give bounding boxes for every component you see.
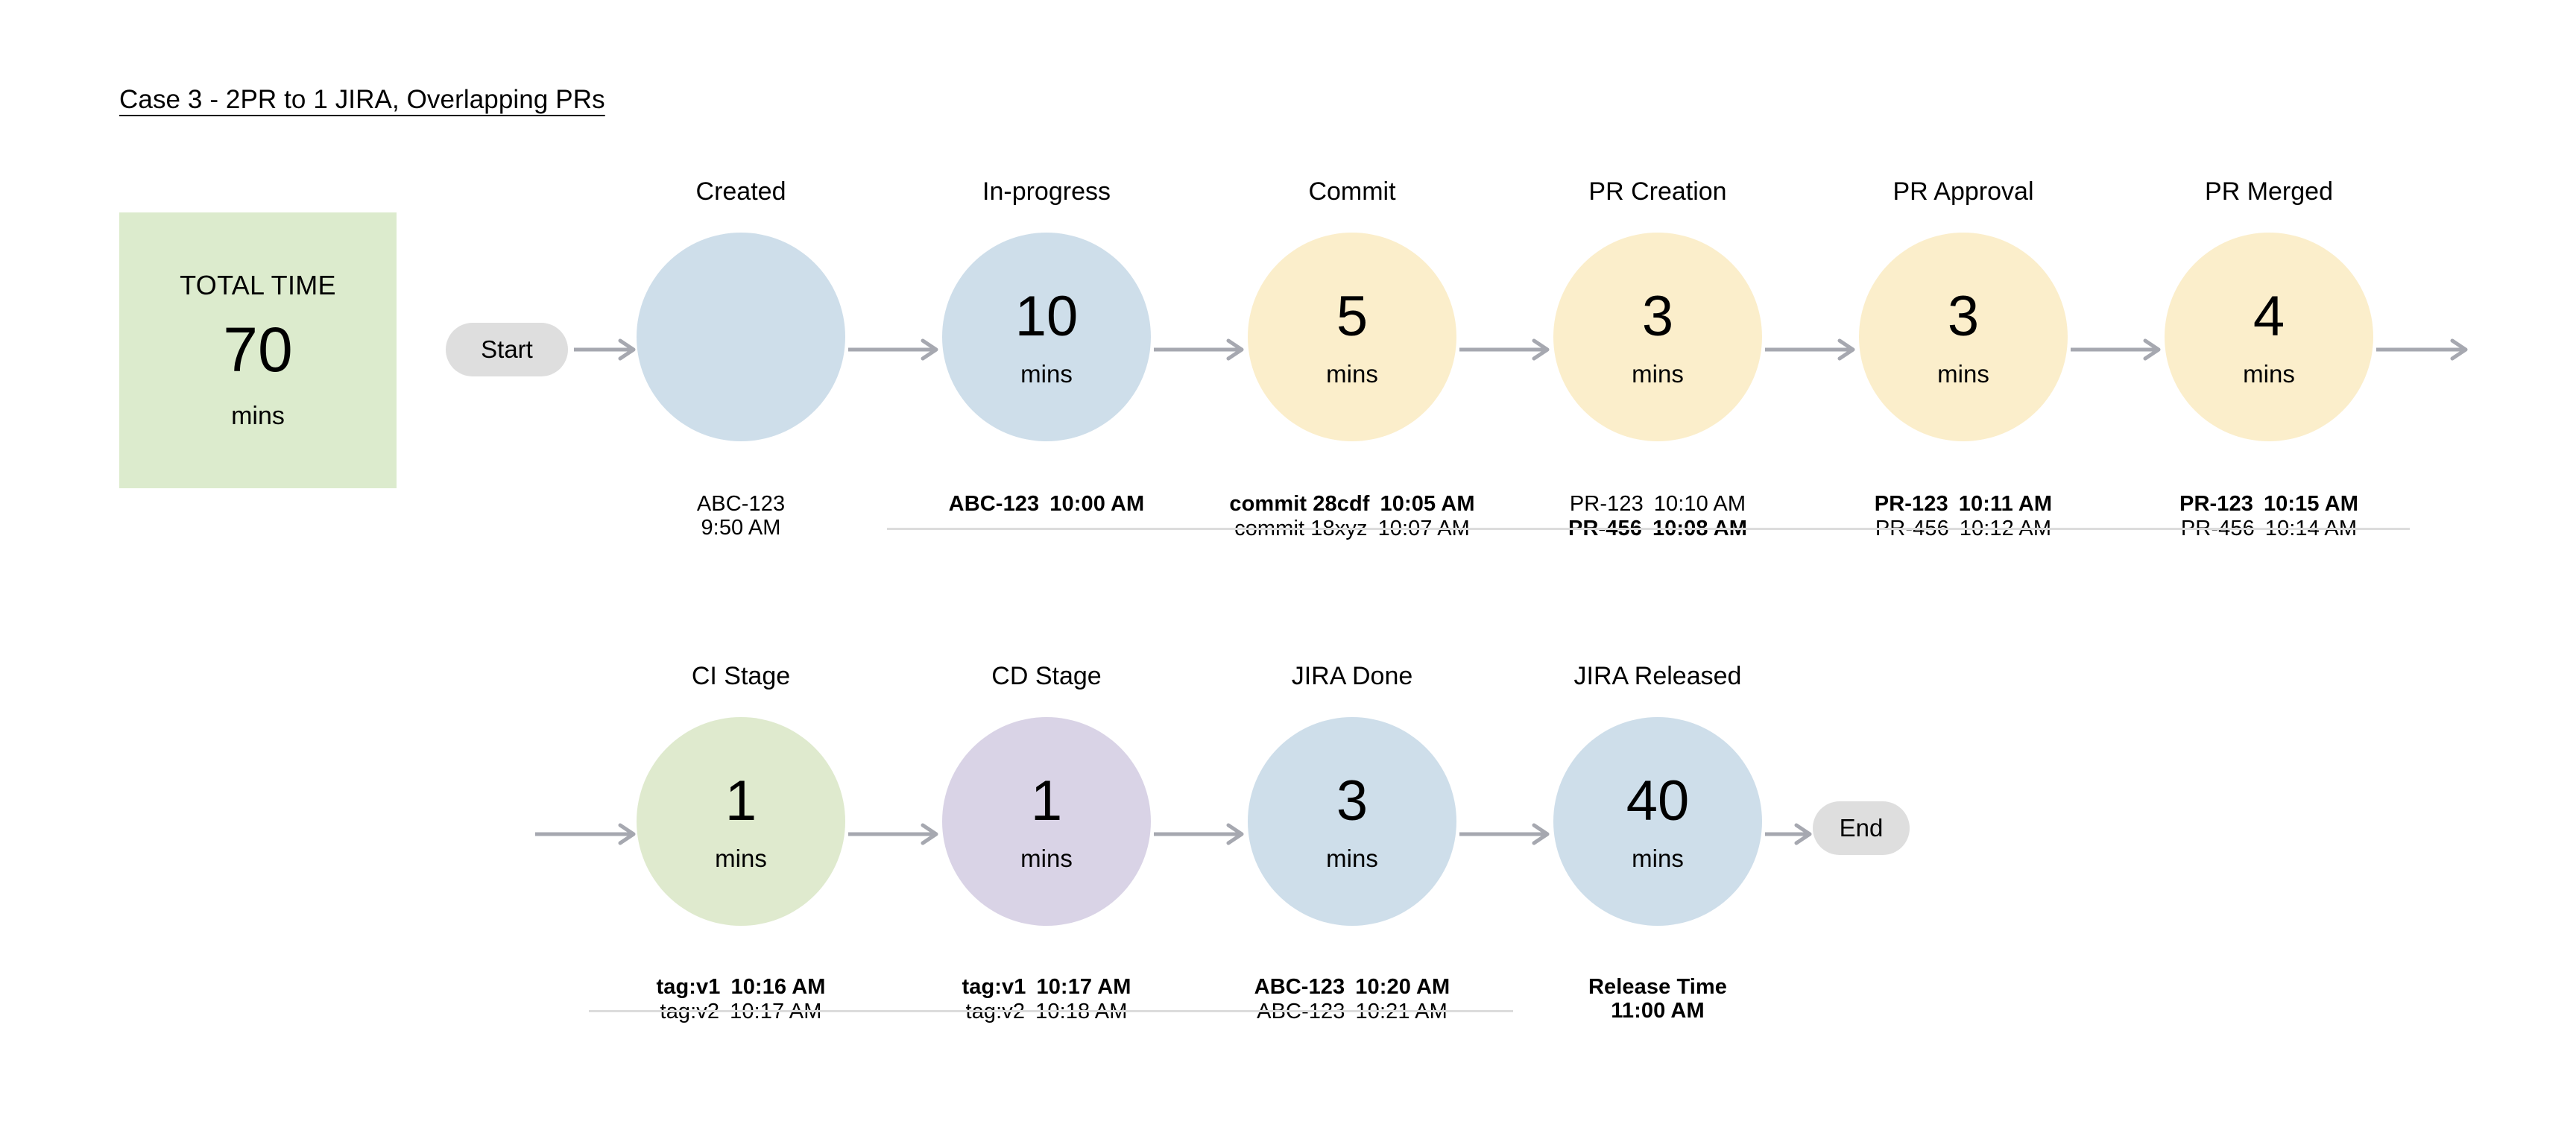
flow-arrow bbox=[574, 338, 653, 361]
stage-duration-unit: mins bbox=[2243, 362, 2295, 386]
stage-duration-value: 3 bbox=[1642, 288, 1673, 345]
detail-ref: PR-123 bbox=[1875, 492, 1948, 516]
detail-time: 10:11 AM bbox=[1959, 492, 2052, 516]
flow-arrow bbox=[2376, 338, 2485, 361]
detail-ref: PR-123 bbox=[1570, 492, 1644, 516]
detail-ref: ABC-123 bbox=[697, 492, 785, 516]
stage-detail-line: Release Time bbox=[1588, 976, 1727, 998]
detail-time: 10:05 AM bbox=[1380, 492, 1475, 516]
detail-time: 10:16 AM bbox=[730, 975, 825, 999]
detail-ref: ABC-123 bbox=[1254, 975, 1345, 999]
flow-arrow bbox=[848, 338, 956, 361]
detail-ref: Release Time bbox=[1588, 975, 1727, 999]
stage-header: CD Stage bbox=[991, 663, 1101, 689]
stage-header: PR Approval bbox=[1893, 179, 2034, 204]
diagram-canvas: Case 3 - 2PR to 1 JIRA, Overlapping PRs … bbox=[0, 0, 2576, 1139]
flow-arrow bbox=[2071, 338, 2178, 361]
stage-header: JIRA Done bbox=[1292, 663, 1413, 689]
detail-ref: tag:v1 bbox=[656, 975, 720, 999]
stage-header: CI Stage bbox=[692, 663, 790, 689]
stage-header: PR Creation bbox=[1588, 179, 1726, 204]
stage-detail-line: ABC-12310:00 AM bbox=[949, 493, 1145, 515]
stage-duration-value: 40 bbox=[1626, 773, 1690, 830]
flow-arrow bbox=[535, 823, 653, 845]
stage-duration-value: 3 bbox=[1948, 288, 1979, 345]
stage-duration-unit: mins bbox=[1326, 362, 1378, 386]
stage-header: Created bbox=[696, 179, 786, 204]
flow-arrow bbox=[1459, 823, 1567, 845]
stage-bubble[interactable]: 3mins bbox=[1553, 233, 1762, 441]
detail-time: 10:20 AM bbox=[1355, 975, 1450, 999]
stage-duration-unit: mins bbox=[1326, 846, 1378, 871]
flow-arrow bbox=[1765, 823, 1829, 845]
stage-bubble[interactable]: 10mins bbox=[942, 233, 1151, 441]
stage-duration-value: 3 bbox=[1336, 773, 1368, 830]
stage-detail-line: tag:v110:16 AM bbox=[656, 976, 825, 998]
detail-ref: commit 28cdf bbox=[1229, 492, 1369, 516]
stage-duration-value: 4 bbox=[2253, 288, 2285, 345]
flow-arrow bbox=[1459, 338, 1567, 361]
stage-detail-line: ABC-12310:20 AM bbox=[1254, 976, 1450, 998]
stage-bubble[interactable]: 5mins bbox=[1248, 233, 1456, 441]
flow-arrow bbox=[1154, 823, 1261, 845]
stage-detail-line: PR-12310:15 AM bbox=[2179, 493, 2358, 515]
detail-ref: PR-123 bbox=[2179, 492, 2253, 516]
stage-header: PR Merged bbox=[2205, 179, 2333, 204]
flow-arrow bbox=[848, 823, 956, 845]
stage-duration-value: 1 bbox=[1031, 773, 1062, 830]
total-time-card: TOTAL TIME 70 mins bbox=[119, 212, 397, 488]
detail-ref: tag:v1 bbox=[962, 975, 1026, 999]
stage-duration-value: 1 bbox=[725, 773, 757, 830]
stage-detail-line: PR-12310:11 AM bbox=[1875, 493, 2052, 515]
stage-duration-unit: mins bbox=[1020, 362, 1073, 386]
stage-bubble[interactable]: 3mins bbox=[1859, 233, 2068, 441]
stage-duration-value: 5 bbox=[1336, 288, 1368, 345]
start-node[interactable]: Start bbox=[446, 323, 568, 376]
detail-time: 10:10 AM bbox=[1654, 492, 1746, 516]
stage-bubble[interactable]: 3mins bbox=[1248, 717, 1456, 926]
stage-detail-line: 11:00 AM bbox=[1611, 1000, 1704, 1022]
stage-header: JIRA Released bbox=[1574, 663, 1742, 689]
total-time-label: TOTAL TIME bbox=[180, 272, 336, 299]
stage-duration-unit: mins bbox=[1937, 362, 1989, 386]
stage-duration-unit: mins bbox=[1632, 846, 1684, 871]
stage-detail-line: commit 28cdf10:05 AM bbox=[1229, 493, 1474, 515]
row-2-divider bbox=[589, 1010, 1513, 1012]
detail-time: 10:00 AM bbox=[1049, 492, 1144, 516]
stage-bubble[interactable]: 4mins bbox=[2165, 233, 2373, 441]
stage-bubble[interactable]: 1mins bbox=[637, 717, 845, 926]
detail-time: 10:17 AM bbox=[1036, 975, 1131, 999]
stage-bubble[interactable] bbox=[637, 233, 845, 441]
detail-ref: 11:00 AM bbox=[1611, 999, 1704, 1023]
stage-header: Commit bbox=[1308, 179, 1395, 204]
stage-detail-line: tag:v110:17 AM bbox=[962, 976, 1131, 998]
stage-duration-value: 10 bbox=[1015, 288, 1079, 345]
stage-duration-unit: mins bbox=[1020, 846, 1073, 871]
flow-arrow bbox=[1765, 338, 1872, 361]
stage-detail-line: PR-12310:10 AM bbox=[1570, 493, 1746, 515]
stage-bubble[interactable]: 1mins bbox=[942, 717, 1151, 926]
stage-detail-line: ABC-123 bbox=[697, 493, 785, 515]
row-1-divider bbox=[887, 528, 2410, 530]
stage-duration-unit: mins bbox=[715, 846, 767, 871]
page-title: Case 3 - 2PR to 1 JIRA, Overlapping PRs bbox=[119, 85, 605, 115]
flow-arrow bbox=[1154, 338, 1261, 361]
total-time-value: 70 bbox=[223, 318, 292, 381]
stage-bubble[interactable]: 40mins bbox=[1553, 717, 1762, 926]
stage-detail-line: 9:50 AM bbox=[701, 517, 780, 539]
stage-header: In-progress bbox=[982, 179, 1111, 204]
detail-ref: ABC-123 bbox=[949, 492, 1040, 516]
detail-time: 10:15 AM bbox=[2264, 492, 2358, 516]
total-time-unit: mins bbox=[231, 403, 285, 429]
detail-ref: 9:50 AM bbox=[701, 516, 780, 540]
stage-duration-unit: mins bbox=[1632, 362, 1684, 386]
